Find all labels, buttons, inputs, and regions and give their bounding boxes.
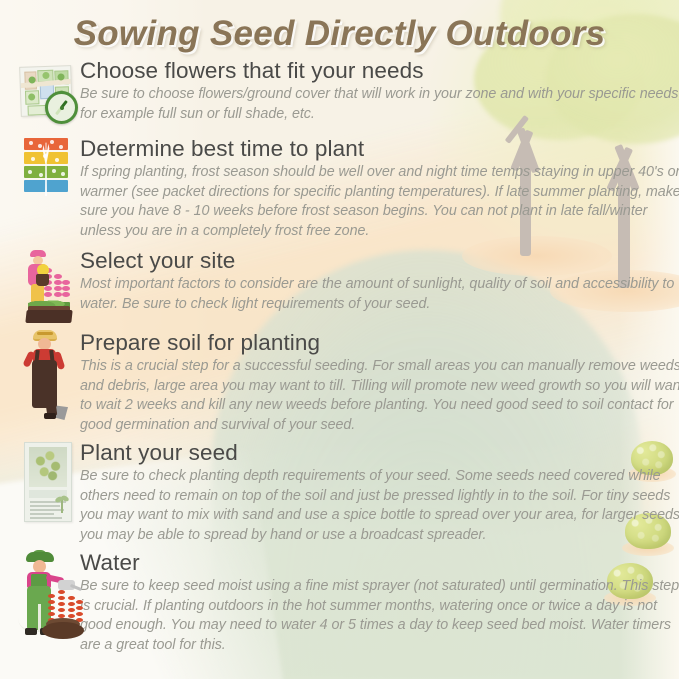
season-band-summer (24, 152, 68, 164)
step-body: Most important factors to consider are t… (80, 275, 679, 314)
seedling-icon (55, 493, 69, 513)
planter-box (25, 310, 72, 323)
seed-packet (24, 442, 72, 522)
season-leaf-dots (24, 152, 68, 164)
list-item: Prepare soil for planting This is a cruc… (0, 330, 679, 435)
step-heading: Choose flowers that fit your needs (80, 58, 679, 84)
step-text: Select your site Most important factors … (76, 248, 679, 314)
seed-packet-photo (29, 447, 67, 487)
gardener-with-shovel-icon (24, 330, 72, 422)
list-item: Plant your seed Be sure to check plantin… (0, 440, 679, 545)
step-heading: Water (80, 550, 679, 576)
page-title: Sowing Seed Directly Outdoors (0, 14, 679, 54)
gardener-boot (25, 628, 37, 635)
step-heading: Select your site (80, 248, 679, 274)
step-body: This is a crucial step for a successful … (80, 357, 679, 435)
step-text: Plant your seed Be sure to check plantin… (76, 440, 679, 545)
compass-pivot (60, 106, 64, 110)
gardener-boot (44, 413, 56, 419)
step-heading: Prepare soil for planting (80, 330, 679, 356)
compass-icon (45, 91, 78, 124)
step-body: Be sure to keep seed moist using a fine … (80, 577, 679, 655)
step-heading: Plant your seed (80, 440, 679, 466)
seed-packet-icon (20, 440, 76, 524)
flower-pot (36, 274, 49, 286)
season-leaf-dots (24, 138, 68, 150)
step-body: Be sure to check planting depth requirem… (80, 467, 679, 545)
season-band-spring (24, 166, 68, 178)
watering-can-spout (70, 584, 82, 591)
step-text: Determine best time to plant If spring p… (76, 136, 679, 241)
four-seasons-icon (24, 138, 68, 196)
list-item: Choose flowers that fit your needs Be su… (0, 58, 679, 124)
season-band-winter (24, 180, 68, 192)
list-item: Select your site Most important factors … (0, 248, 679, 314)
soil-mound (42, 622, 84, 639)
step-text: Choose flowers that fit your needs Be su… (76, 58, 679, 124)
list-item: Water Be sure to keep seed moist using a… (0, 550, 679, 655)
gardener-with-flowers-icon (20, 248, 76, 326)
seed-packet-text-line (30, 517, 62, 519)
seed-packet-text-line (30, 513, 54, 515)
season-band-autumn (24, 138, 68, 150)
hat-band (37, 332, 53, 335)
infographic-poster: Sowing Seed Directly Outdoors (0, 0, 679, 679)
step-text: Water Be sure to keep seed moist using a… (76, 550, 679, 655)
season-leaf-dots (24, 166, 68, 178)
step-body: If spring planting, frost season should … (80, 163, 679, 241)
list-item: Determine best time to plant If spring p… (0, 136, 679, 241)
step-text: Prepare soil for planting This is a cruc… (76, 330, 679, 435)
garden-plan-compass-icon (18, 64, 74, 122)
gardener-watering-icon (18, 550, 84, 642)
step-heading: Determine best time to plant (80, 136, 679, 162)
step-body: Be sure to choose flowers/ground cover t… (80, 85, 679, 124)
